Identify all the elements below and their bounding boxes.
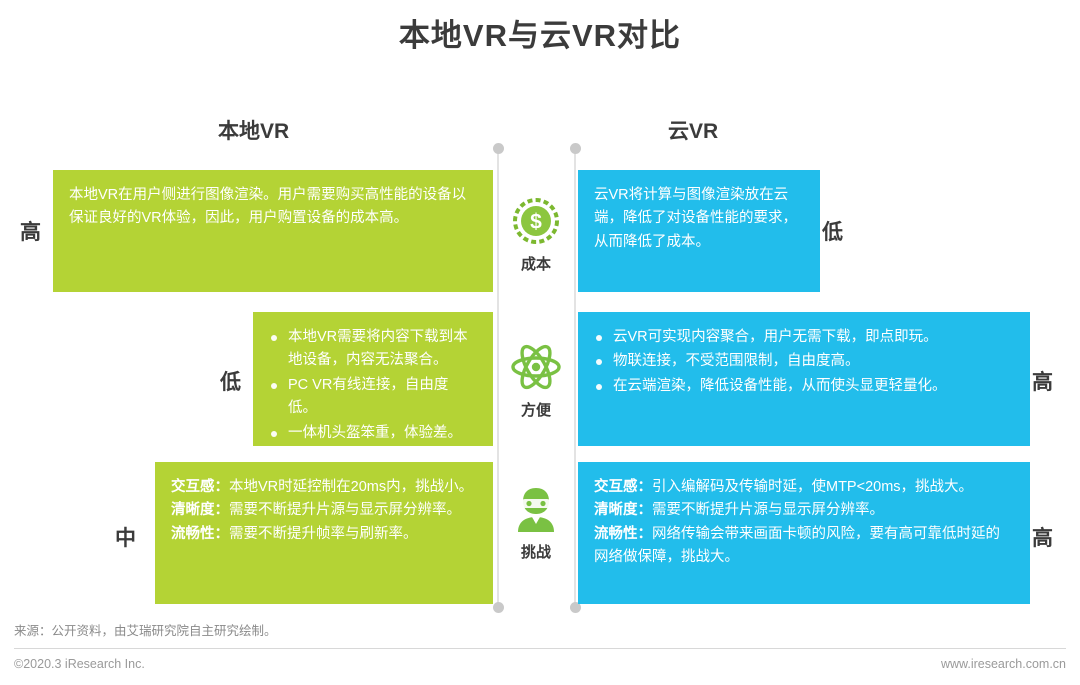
vr-user-icon	[500, 484, 572, 534]
panel-text: 本地VR在用户侧进行图像渲染。用户需要购买高性能的设备以保证良好的VR体验，因此…	[69, 187, 466, 226]
center-icon-cell-convenience: 方便	[500, 342, 572, 420]
keyed-line: 清晰度：需要不断提升片源与显示屏分辨率。	[171, 499, 477, 522]
panel-text: 云VR将计算与图像渲染放在云端，降低了对设备性能的要求，从而降低了成本。	[594, 187, 797, 250]
line-value: 需要不断提升帧率与刷新率。	[229, 526, 418, 542]
line-value: 需要不断提升片源与显示屏分辨率。	[229, 502, 461, 518]
panel-cloud-vr-challenge: 交互感：引入编解码及传输时延，使MTP<20ms，挑战大。 清晰度：需要不断提升…	[578, 462, 1030, 604]
scale-label-left-convenience: 低	[220, 366, 241, 396]
infographic-page: 本地VR与云VR对比 本地VR 云VR 高 本地VR在用户侧进行图像渲染。用户需…	[0, 0, 1080, 685]
list-item: 本地VR需要将内容下载到本地设备，内容无法聚合。	[269, 326, 477, 373]
keyed-line: 清晰度：需要不断提升片源与显示屏分辨率。	[594, 499, 1014, 522]
center-icon-label: 方便	[500, 399, 572, 420]
line-value: 本地VR时延控制在20ms内，挑战小。	[229, 479, 473, 495]
line-value: 引入编解码及传输时延，使MTP<20ms，挑战大。	[652, 479, 973, 495]
panel-local-vr-convenience: 本地VR需要将内容下载到本地设备，内容无法聚合。 PC VR有线连接，自由度低。…	[253, 312, 493, 446]
list-item: 一体机头盔笨重，体验差。	[269, 422, 477, 445]
line-value: 需要不断提升片源与显示屏分辨率。	[652, 502, 884, 518]
keyed-line: 交互感：本地VR时延控制在20ms内，挑战小。	[171, 476, 477, 499]
column-header-cloud-vr: 云VR	[668, 115, 718, 145]
center-icon-label: 挑战	[500, 541, 572, 562]
scale-label-right-cost: 低	[822, 216, 843, 246]
bullet-list: 云VR可实现内容聚合，用户无需下载，即点即玩。 物联连接，不受范围限制，自由度高…	[594, 326, 1014, 398]
scale-label-left-challenge: 中	[115, 522, 136, 552]
bullet-list: 本地VR需要将内容下载到本地设备，内容无法聚合。 PC VR有线连接，自由度低。…	[269, 326, 477, 445]
center-icon-cell-challenge: 挑战	[500, 484, 572, 562]
line-key: 清晰度：	[171, 502, 229, 518]
keyed-line: 交互感：引入编解码及传输时延，使MTP<20ms，挑战大。	[594, 476, 1014, 499]
keyed-line: 流畅性：需要不断提升帧率与刷新率。	[171, 523, 477, 546]
copyright-text: ©2020.3 iResearch Inc.	[14, 657, 145, 671]
panel-cloud-vr-cost: 云VR将计算与图像渲染放在云端，降低了对设备性能的要求，从而降低了成本。	[578, 170, 820, 292]
line-key: 流畅性：	[594, 526, 652, 542]
list-item: 在云端渲染，降低设备性能，从而使头显更轻量化。	[594, 375, 1014, 398]
line-key: 清晰度：	[594, 502, 652, 518]
panel-local-vr-cost: 本地VR在用户侧进行图像渲染。用户需要购买高性能的设备以保证良好的VR体验，因此…	[53, 170, 493, 292]
dollar-coin-icon: $	[500, 196, 572, 246]
panel-local-vr-challenge: 交互感：本地VR时延控制在20ms内，挑战小。 清晰度：需要不断提升片源与显示屏…	[155, 462, 493, 604]
rail-dot-top-icon	[493, 143, 504, 154]
line-key: 交互感：	[594, 479, 652, 495]
panel-cloud-vr-convenience: 云VR可实现内容聚合，用户无需下载，即点即玩。 物联连接，不受范围限制，自由度高…	[578, 312, 1030, 446]
atom-icon	[500, 342, 572, 392]
center-icon-cell-cost: $ 成本	[500, 196, 572, 274]
list-item: 物联连接，不受范围限制，自由度高。	[594, 350, 1014, 373]
line-value: 网络传输会带来画面卡顿的风险，要有高可靠低时延的网络做保障，挑战大。	[594, 526, 1000, 565]
source-note: 来源：公开资料，由艾瑞研究院自主研究绘制。	[14, 620, 277, 639]
footer-divider	[14, 648, 1066, 649]
column-header-local-vr: 本地VR	[218, 115, 289, 145]
line-key: 交互感：	[171, 479, 229, 495]
scale-label-right-challenge: 高	[1032, 522, 1053, 552]
scale-label-right-convenience: 高	[1032, 366, 1053, 396]
page-title: 本地VR与云VR对比	[0, 10, 1080, 55]
list-item: PC VR有线连接，自由度低。	[269, 374, 477, 421]
website-url: www.iresearch.com.cn	[941, 657, 1066, 671]
keyed-line: 流畅性：网络传输会带来画面卡顿的风险，要有高可靠低时延的网络做保障，挑战大。	[594, 523, 1014, 570]
center-icon-label: 成本	[500, 253, 572, 274]
rail-dot-top-icon	[570, 143, 581, 154]
list-item: 云VR可实现内容聚合，用户无需下载，即点即玩。	[594, 326, 1014, 349]
scale-label-left-cost: 高	[20, 216, 41, 246]
line-key: 流畅性：	[171, 526, 229, 542]
svg-text:$: $	[530, 211, 542, 234]
